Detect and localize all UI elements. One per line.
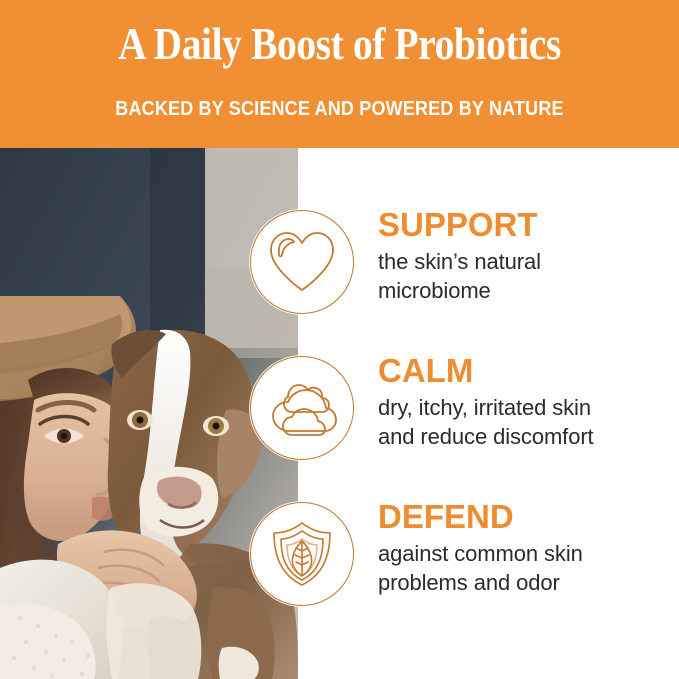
benefit-description-line1: dry, itchy, irritated skin — [378, 393, 668, 422]
benefit-title: CALM — [378, 352, 668, 390]
page-subtitle: BACKED BY SCIENCE AND POWERED BY NATURE — [34, 96, 645, 122]
product-infographic: A Daily Boost of Probiotics BACKED BY SC… — [0, 0, 679, 679]
benefits-list: SUPPORT the skin’s natural microbiome CA… — [0, 148, 679, 679]
benefit-description-line2: problems and odor — [378, 568, 668, 597]
page-title: A Daily Boost of Probiotics — [41, 17, 639, 71]
benefit-text-calm: CALM dry, itchy, irritated skin and redu… — [378, 352, 668, 451]
benefit-text-defend: DEFEND against common skin problems and … — [378, 498, 668, 597]
header-banner: A Daily Boost of Probiotics BACKED BY SC… — [0, 0, 679, 148]
benefit-description-line1: against common skin — [378, 539, 668, 568]
heart-icon — [250, 210, 354, 314]
benefit-description: dry, itchy, irritated skin and reduce di… — [378, 393, 668, 451]
benefit-title: DEFEND — [378, 498, 668, 536]
benefit-description-line2: and reduce discomfort — [378, 422, 668, 451]
benefit-description: against common skin problems and odor — [378, 539, 668, 597]
benefit-description: the skin’s natural microbiome — [378, 247, 668, 305]
benefit-title: SUPPORT — [378, 206, 668, 244]
benefit-text-support: SUPPORT the skin’s natural microbiome — [378, 206, 668, 305]
benefit-description-line1: the skin’s natural — [378, 247, 668, 276]
shield-leaf-icon — [250, 502, 354, 606]
benefit-description-line2: microbiome — [378, 276, 668, 305]
clouds-icon — [250, 356, 354, 460]
